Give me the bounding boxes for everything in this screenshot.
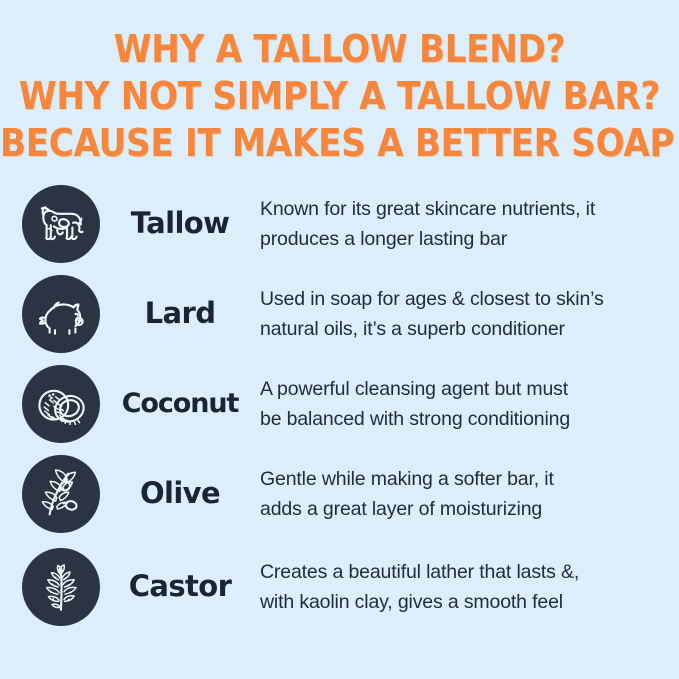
olive-branch-icon [31, 464, 91, 524]
tallow-blend-infographic: WHY A TALLOW BLEND? WHY NOT SIMPLY A TAL… [0, 0, 679, 635]
ingredient-row-olive: Olive Gentle while making a softer bar, … [22, 449, 665, 539]
tallow-description: Known for its great skincare nutrients, … [260, 194, 665, 254]
castor-description-line-1: Creates a beautiful lather that lasts &, [260, 557, 665, 587]
lard-label: Lard [100, 298, 260, 330]
headline-line-3: BECAUSE IT MAKES A BETTER SOAP! [0, 120, 679, 167]
ingredient-list: Tallow Known for its great skincare nutr… [0, 179, 679, 635]
headline-block: WHY A TALLOW BLEND? WHY NOT SIMPLY A TAL… [0, 0, 679, 167]
lard-badge [22, 275, 100, 353]
coconut-description-line-2: be balanced with strong conditioning [260, 404, 665, 434]
tallow-description-line-1: Known for its great skincare nutrients, … [260, 194, 665, 224]
castor-description-line-2: with kaolin clay, gives a smooth feel [260, 587, 665, 617]
castor-label: Castor [100, 571, 260, 603]
olive-description-line-1: Gentle while making a softer bar, it [260, 464, 665, 494]
olive-badge [22, 455, 100, 533]
coconut-description: A powerful cleansing agent but must be b… [260, 374, 665, 434]
olive-description: Gentle while making a softer bar, it add… [260, 464, 665, 524]
ingredient-row-tallow: Tallow Known for its great skincare nutr… [22, 179, 665, 269]
pig-icon [31, 284, 91, 344]
tallow-label: Tallow [100, 208, 260, 240]
tallow-badge [22, 185, 100, 263]
coconut-label: Coconut [100, 389, 260, 419]
coconut-badge [22, 365, 100, 443]
tallow-description-line-2: produces a longer lasting bar [260, 224, 665, 254]
headline-line-2: WHY NOT SIMPLY A TALLOW BAR? [0, 73, 679, 120]
castor-plant-icon [31, 557, 91, 617]
coconut-icon [31, 374, 91, 434]
castor-description: Creates a beautiful lather that lasts &,… [260, 557, 665, 617]
coconut-description-line-1: A powerful cleansing agent but must [260, 374, 665, 404]
lard-description-line-2: natural oils, it’s a superb conditioner [260, 314, 665, 344]
olive-description-line-2: adds a great layer of moisturizing [260, 494, 665, 524]
lard-description-line-1: Used in soap for ages & closest to skin’… [260, 284, 665, 314]
olive-label: Olive [100, 478, 260, 510]
cow-icon [31, 194, 91, 254]
ingredient-row-coconut: Coconut A powerful cleansing agent but m… [22, 359, 665, 449]
lard-description: Used in soap for ages & closest to skin’… [260, 284, 665, 344]
ingredient-row-castor: Castor Creates a beautiful lather that l… [22, 539, 665, 635]
castor-badge [22, 548, 100, 626]
ingredient-row-lard: Lard Used in soap for ages & closest to … [22, 269, 665, 359]
headline-line-1: WHY A TALLOW BLEND? [0, 26, 679, 73]
